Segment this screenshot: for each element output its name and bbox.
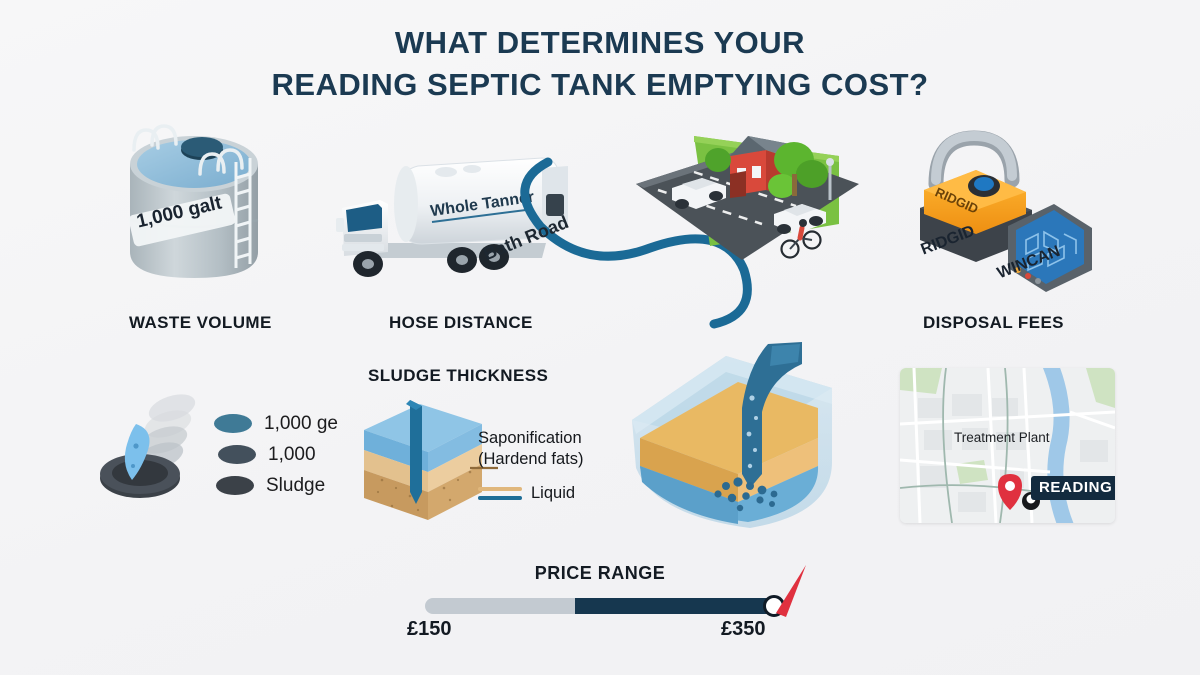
page-title: WHAT DETERMINES YOUR READING SEPTIC TANK… xyxy=(0,22,1200,106)
liquid-swatch xyxy=(478,487,522,500)
legend-item: 1,000 xyxy=(218,439,338,470)
tank-cross-section-illustration xyxy=(622,342,872,537)
caption-hose-distance: HOSE DISTANCE xyxy=(389,313,533,333)
map-plant-label: Treatment Plant xyxy=(954,430,1050,445)
infographic-canvas: WHAT DETERMINES YOUR READING SEPTIC TANK… xyxy=(0,0,1200,675)
price-min-label: £150 xyxy=(407,618,452,641)
slider-fill xyxy=(575,598,775,614)
caption-sludge-thickness: SLUDGE THICKNESS xyxy=(368,366,548,386)
legend-label: 1,000 xyxy=(268,444,316,466)
price-range-title: PRICE RANGE xyxy=(0,563,1200,584)
price-max-label: £350 xyxy=(721,618,766,641)
callout-line-2: (Hardend fats) xyxy=(478,449,583,470)
price-pointer-needle xyxy=(760,563,814,623)
legend-swatch xyxy=(218,445,256,464)
sludge-thickness-illustration xyxy=(358,396,498,526)
liquid-label: Liquid xyxy=(531,483,575,504)
liquid-legend-item: Liquid xyxy=(478,483,583,504)
map-city-badge: READING xyxy=(1031,476,1115,500)
sludge-bowl-illustration xyxy=(98,394,218,504)
legend-item: 1,000 ge xyxy=(214,408,338,439)
title-line-1: WHAT DETERMINES YOUR xyxy=(0,22,1200,64)
title-line-2: READING SEPTIC TANK EMPTYING COST? xyxy=(0,64,1200,106)
legend-swatch xyxy=(216,476,254,495)
treatment-plant-map[interactable]: Treatment Plant READING xyxy=(900,368,1115,523)
price-range-slider[interactable] xyxy=(425,598,775,614)
legend-label: Sludge xyxy=(266,475,325,497)
callout-line-1: Saponification xyxy=(478,428,583,449)
legend-item: Sludge xyxy=(216,470,338,501)
caption-disposal-fees: DISPOSAL FEES xyxy=(923,313,1064,333)
legend-label: 1,000 ge xyxy=(264,413,338,435)
street-scene-illustration xyxy=(634,128,859,283)
legend-swatch xyxy=(214,414,252,433)
sludge-callout: Saponification (Hardend fats) Liquid xyxy=(478,428,583,504)
caption-waste-volume: WASTE VOLUME xyxy=(129,313,272,333)
sludge-legend: 1,000 ge 1,000 Sludge xyxy=(214,408,338,501)
waste-volume-illustration: 1,000 galt xyxy=(112,112,312,302)
